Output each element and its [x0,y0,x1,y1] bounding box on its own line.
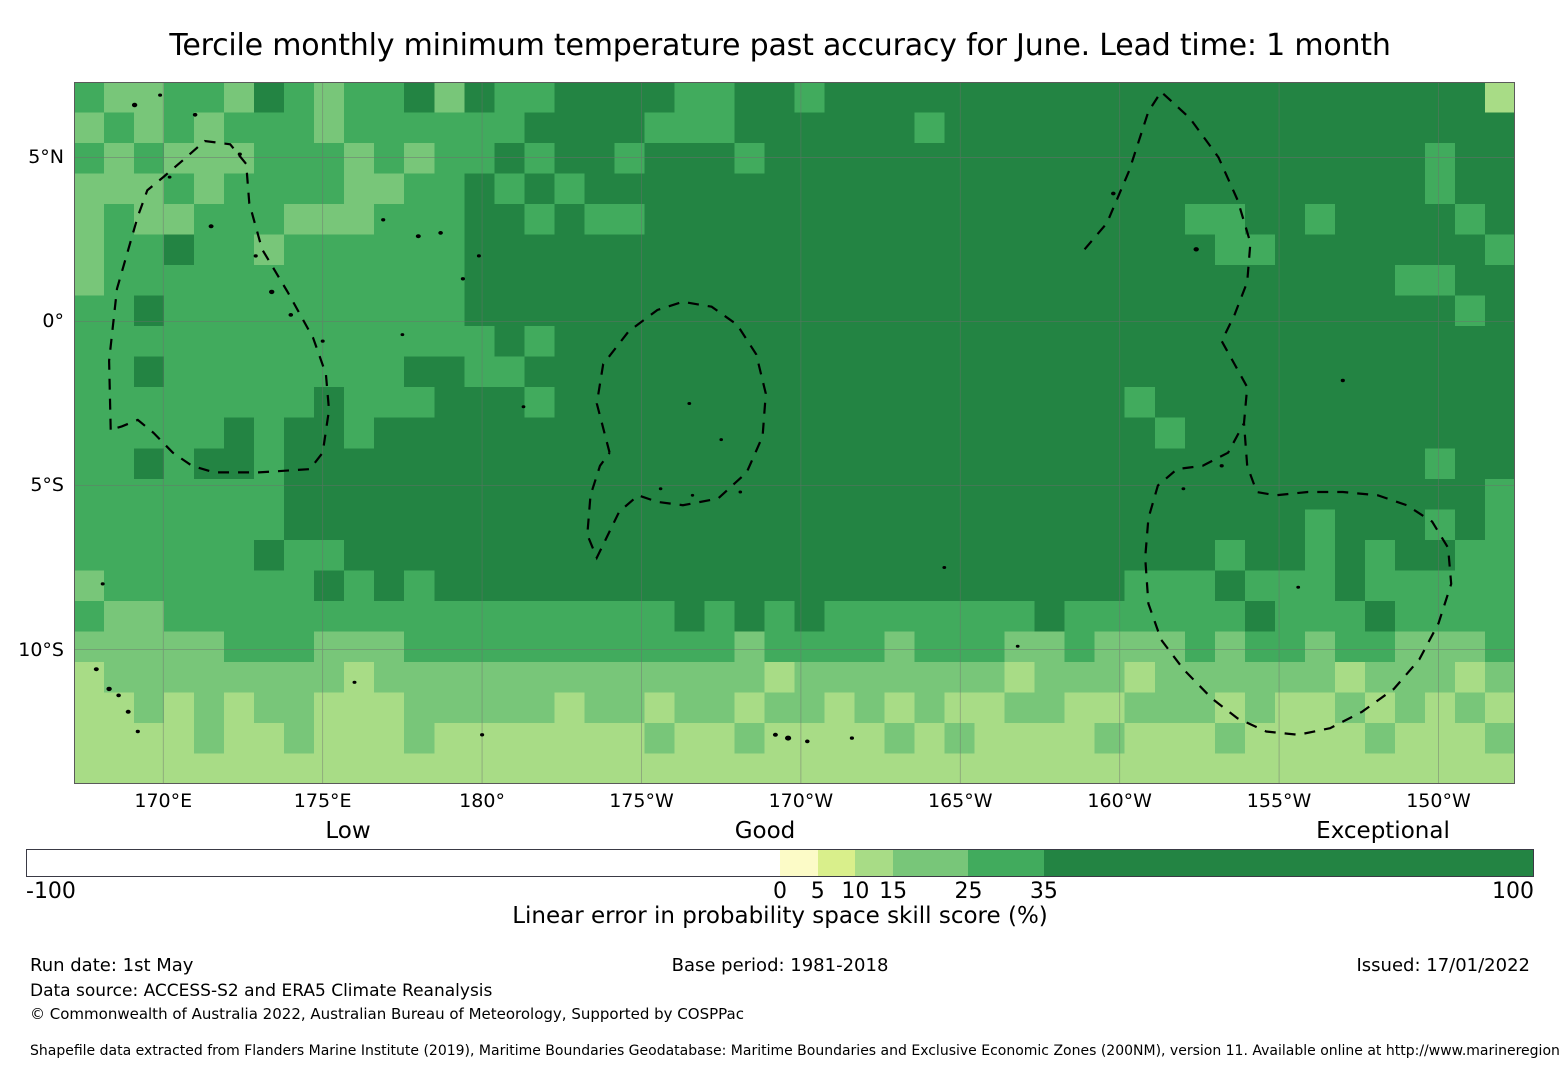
island-mark [321,340,324,342]
island-mark [270,290,274,293]
island-mark [193,113,197,116]
run-date-text: Run date: 1st May [30,955,193,976]
island-mark [117,694,121,697]
island-mark [159,94,162,96]
eez-boundary-3 [1085,92,1452,735]
island-mark [1194,248,1198,251]
x-tick-label-8: 150°W [1406,790,1471,812]
colorbar-quality-label-exceptional: Exceptional [1316,818,1450,844]
island-mark [254,255,257,257]
colorbar-qualitative-labels: LowGoodExceptional [0,818,1560,848]
coastline-layer [94,94,1344,743]
colorbar-tick-100: 100 [1492,879,1534,904]
island-mark [850,737,853,739]
island-mark [691,494,693,496]
copyright-text: © Commonwealth of Australia 2022, Austra… [30,1005,744,1023]
island-mark [238,153,241,155]
map-gridlines [74,82,1515,784]
page-title: Tercile monthly minimum temperature past… [0,28,1560,64]
colorbar-quality-label-low: Low [325,818,370,844]
colorbar-tick-35: 35 [1030,879,1058,904]
colorbar-tick-0: 0 [773,879,787,904]
y-tick-label-0: 5°N [28,146,64,168]
island-mark [1112,192,1116,195]
colorbar-segment-6[interactable] [1044,850,1533,876]
map-plot-area[interactable] [74,82,1515,784]
island-mark [461,278,464,280]
island-mark [1297,586,1300,588]
x-tick-label-2: 180° [459,790,505,812]
island-mark [481,734,484,736]
colorbar-segment-3[interactable] [855,850,893,876]
colorbar-tick-25: 25 [955,879,983,904]
island-mark [107,687,111,690]
island-mark [786,736,791,740]
map-overlay [74,82,1515,784]
eez-boundary-layer [109,92,1451,735]
forecast-map-page: Tercile monthly minimum temperature past… [0,0,1560,1065]
island-mark [126,710,130,713]
island-mark [773,733,777,736]
island-mark [720,439,723,441]
colorbar-quality-label-good: Good [735,818,796,844]
island-mark [136,730,139,732]
island-mark [382,219,385,221]
data-source-text: Data source: ACCESS-S2 and ERA5 Climate … [30,981,492,1001]
y-tick-label-2: 5°S [30,474,64,496]
island-mark [101,583,104,585]
colorbar-axis-label: Linear error in probability space skill … [0,903,1560,929]
eez-boundary-2 [587,302,766,558]
colorbar-segment-5[interactable] [968,850,1043,876]
y-tick-label-3: 10°S [18,639,64,661]
island-mark [416,235,420,238]
colorbar-tick--100: -100 [26,879,76,904]
island-mark [289,314,293,317]
colorbar-segment-1[interactable] [780,850,818,876]
x-tick-label-6: 160°W [1087,790,1152,812]
island-mark [522,406,525,408]
x-tick-label-5: 165°W [928,790,993,812]
colorbar[interactable] [26,849,1534,877]
island-mark [1341,379,1344,381]
colorbar-tick-5: 5 [811,879,825,904]
island-mark [1016,645,1019,647]
island-mark [806,740,810,743]
issued-date-text: Issued: 17/01/2022 [1356,955,1530,976]
island-mark [94,668,98,671]
island-mark [439,232,443,235]
island-mark [739,491,742,493]
shapefile-note-text: Shapefile data extracted from Flanders M… [30,1043,1560,1059]
island-mark [943,567,946,569]
colorbar-segment-2[interactable] [818,850,856,876]
x-tick-label-0: 170°E [134,790,192,812]
y-tick-label-1: 0° [42,310,64,332]
colorbar-segment-0[interactable] [27,850,780,876]
eez-boundary-1 [109,141,329,472]
island-mark [1182,488,1185,490]
island-mark [1220,465,1223,467]
x-tick-label-3: 175°W [609,790,674,812]
island-mark [477,255,480,257]
colorbar-tick-10: 10 [841,879,869,904]
colorbar-segment-4[interactable] [893,850,968,876]
island-mark [659,488,662,490]
colorbar-tick-15: 15 [879,879,907,904]
base-period-text: Base period: 1981-2018 [672,955,889,976]
island-mark [401,334,404,336]
island-mark [353,681,356,683]
island-mark [132,103,136,106]
island-mark [209,225,213,228]
x-tick-label-4: 170°W [769,790,834,812]
x-tick-label-1: 175°E [294,790,352,812]
island-mark [168,176,171,178]
island-mark [688,403,691,405]
x-tick-label-7: 155°W [1247,790,1312,812]
